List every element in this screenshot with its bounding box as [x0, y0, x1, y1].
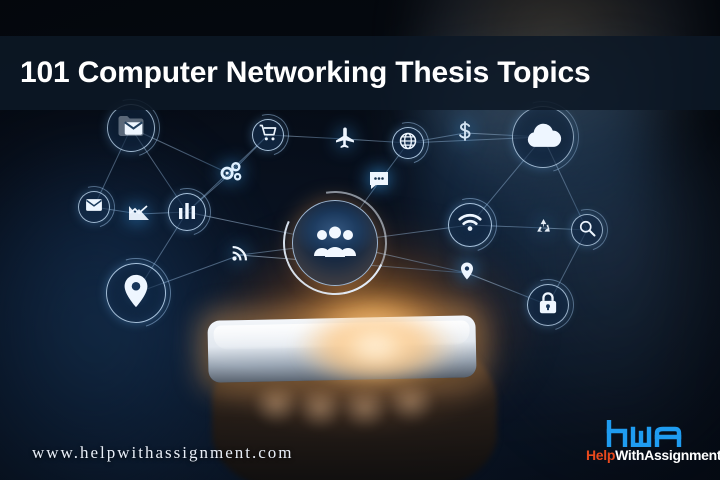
globe-icon-glyph — [398, 131, 418, 155]
logo-word-with: WithAssignment — [615, 447, 720, 463]
helpwithassignment-logo[interactable]: HelpWithAssignment! — [586, 420, 702, 472]
location-pin-icon-glyph — [117, 272, 155, 314]
people-group-icon — [292, 200, 378, 286]
shopping-cart-icon-glyph — [258, 123, 278, 147]
wifi-icon-glyph — [456, 209, 484, 241]
cloud-icon-glyph — [524, 116, 563, 159]
network-hub — [292, 200, 378, 286]
mail-folder-icon-glyph — [116, 111, 146, 145]
hwa-logomark-icon — [605, 420, 683, 447]
lock-icon-glyph — [535, 290, 561, 320]
logo-wordmark: HelpWithAssignment! — [586, 448, 702, 462]
search-icon-glyph — [577, 218, 597, 242]
networking-thesis-banner: 101 Computer Networking Thesis Topics ww… — [0, 0, 720, 480]
logo-word-help: Help — [586, 447, 615, 463]
site-url[interactable]: www.helpwithassignment.com — [32, 443, 293, 463]
page-title: 101 Computer Networking Thesis Topics — [0, 56, 591, 90]
envelope-icon-glyph — [84, 195, 104, 219]
bar-chart-icon-glyph — [175, 198, 199, 226]
title-band: 101 Computer Networking Thesis Topics — [0, 36, 720, 110]
